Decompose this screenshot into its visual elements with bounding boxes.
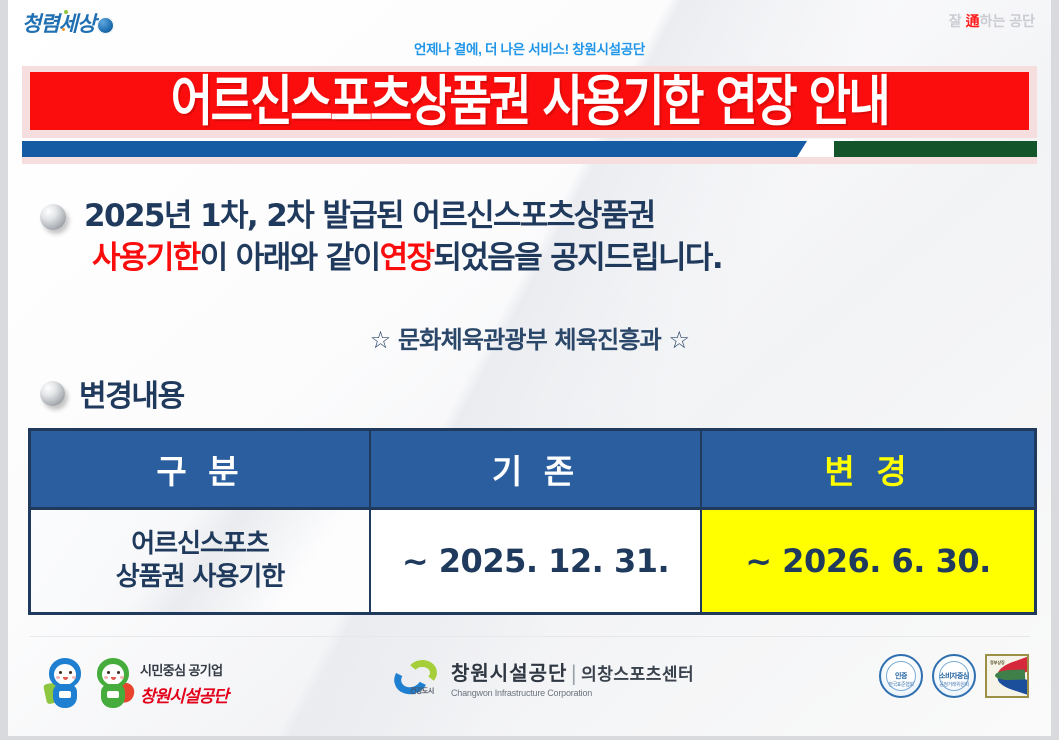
slogan-right-accent: 通: [966, 13, 980, 29]
certification-badge-label: 인증: [881, 671, 921, 681]
lead-line-2-mid: 이 아래와 같이: [200, 238, 380, 280]
ministry-name: 문화체육관광부 체육진흥과: [398, 326, 661, 354]
title-band: 어르신스포츠상품권 사용기한 연장 안내: [22, 66, 1037, 138]
title-rule-bar: [22, 141, 1037, 157]
lead-highlight-extension: 연장: [380, 238, 434, 280]
slogan-right-suffix: 하는 공단: [980, 13, 1035, 29]
rule-blue-segment: [22, 141, 827, 157]
logo-divider: |: [570, 661, 578, 685]
table-header-row: 구 분 기 존 변 경: [31, 431, 1034, 507]
globe-icon: [97, 17, 114, 34]
title-banner: 어르신스포츠상품권 사용기한 연장 안내: [30, 72, 1029, 130]
certification-badge-sub: 한국표준협회: [881, 681, 921, 688]
lead-highlight-usage-period: 사용기한: [92, 238, 200, 280]
government-badge-label: 정부상징: [990, 660, 1005, 666]
cheongryeom-logo: 청렴세상: [22, 8, 114, 38]
section-heading-changes: 변경내용: [40, 371, 184, 415]
ministry-line: ☆ 문화체육관광부 체육진흥과 ☆: [0, 320, 1059, 355]
dot-orange-icon: [62, 28, 65, 31]
changes-table: 구 분 기 존 변 경 어르신스포츠 상품권 사용기한 ~ 2025. 12. …: [28, 428, 1037, 615]
table-cell-category: 어르신스포츠 상품권 사용기한: [31, 510, 369, 612]
dot-green-icon: [64, 10, 68, 14]
table-cell-category-line1: 어르신스포츠: [116, 528, 285, 561]
rule-green-segment: [834, 141, 1037, 157]
table-header-existing: 기 존: [369, 431, 700, 507]
star-right-icon: ☆: [669, 326, 690, 354]
organization-name-row: 창원시설공단|의창스포츠센터: [451, 661, 694, 685]
table-cell-existing: ~ 2025. 12. 31.: [369, 510, 700, 612]
lead-line-2-tail: 되었음을 공지드립니다.: [433, 238, 722, 280]
organization-logo: 건강도시 창원시설공단|의창스포츠센터 Changwon Infrastruct…: [394, 660, 694, 700]
star-left-icon: ☆: [370, 326, 391, 354]
branch-name: 의창스포츠센터: [581, 665, 694, 685]
mascot-green-icon: [92, 658, 134, 710]
poster-footer: 시민중심 공기업 창원시설공단 건강도시 창원시설공단|의창스포츠센터 Chan…: [8, 636, 1051, 740]
slogan-right-prefix: 잘: [949, 13, 966, 29]
table-header-category: 구 분: [31, 431, 369, 507]
lead-line-2: 사용기한이 아래와 같이 연장되었음을 공지드립니다.: [40, 238, 1030, 280]
table-row: 어르신스포츠 상품권 사용기한 ~ 2025. 12. 31. ~ 2026. …: [31, 507, 1034, 612]
mascot-caption-line2: 창원시설공단: [140, 682, 228, 707]
swoosh-sub-mark: 건강도시: [410, 686, 434, 696]
poster-root: 청렴세상 잘 通하는 공단 언제나 곁에, 더 나은 서비스! 창원시설공단 어…: [0, 0, 1059, 740]
section-heading-label: 변경내용: [79, 371, 184, 415]
lead-paragraph: 2025년 1차, 2차 발급된 어르신스포츠상품권 사용기한이 아래와 같이 …: [40, 196, 1030, 279]
mascot-group: [44, 658, 134, 710]
mascot-caption: 시민중심 공기업 창원시설공단: [140, 660, 228, 707]
mascot-caption-line1: 시민중심 공기업: [140, 660, 228, 679]
swoosh-logo-icon: 건강도시: [394, 660, 442, 700]
mascot-blue-icon: [44, 658, 86, 710]
table-cell-changed: ~ 2026. 6. 30.: [700, 510, 1034, 612]
title-band-bottom: [22, 157, 1037, 164]
cheongryeom-label: 청렴세상: [22, 8, 95, 38]
lead-line-1-text: 2025년 1차, 2차 발급된 어르신스포츠상품권: [84, 196, 655, 238]
organization-name: 창원시설공단: [451, 661, 567, 685]
certification-badge-icon: 인증 한국표준협회: [879, 654, 923, 698]
slogan-right: 잘 通하는 공단: [949, 11, 1035, 31]
page-title: 어르신스포츠상품권 사용기한 연장 안내: [171, 74, 888, 128]
consumer-badge-sub: 공정거래위원회: [934, 681, 974, 688]
sphere-bullet-icon: [40, 381, 65, 406]
sphere-bullet-icon: [40, 204, 66, 230]
lead-line-1: 2025년 1차, 2차 발급된 어르신스포츠상품권: [40, 196, 1030, 238]
footer-divider: [30, 636, 1030, 637]
table-cell-category-line2: 상품권 사용기한: [116, 561, 285, 594]
poster-header: 청렴세상 잘 通하는 공단 언제나 곁에, 더 나은 서비스! 창원시설공단: [8, 0, 1051, 62]
certification-badge-group: 인증 한국표준협회 소비자중심 공정거래위원회 정부상징: [879, 654, 1029, 698]
consumer-centered-badge-icon: 소비자중심 공정거래위원회: [932, 654, 976, 698]
consumer-badge-label: 소비자중심: [934, 671, 974, 681]
table-header-changed: 변 경: [700, 431, 1034, 507]
organization-name-english: Changwon Infrastructure Corporation: [451, 688, 694, 699]
tagline: 언제나 곁에, 더 나은 서비스! 창원시설공단: [8, 38, 1051, 58]
government-symbol-badge-icon: 정부상징: [985, 654, 1029, 698]
